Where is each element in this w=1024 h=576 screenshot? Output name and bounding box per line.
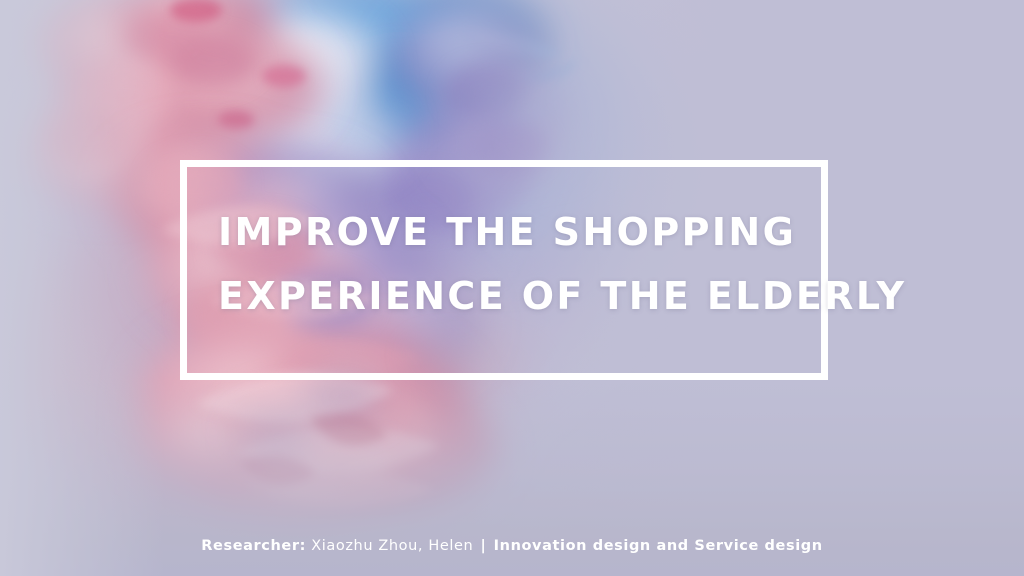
title-line-2: EXPERIENCE OF THE ELDERLY xyxy=(218,264,818,328)
footer-credit: Researcher: Xiaozhu Zhou, Helen | Innova… xyxy=(0,538,1024,554)
footer-researcher-names: Xiaozhu Zhou, Helen xyxy=(311,538,473,554)
title-slide: IMPROVE THE SHOPPING EXPERIENCE OF THE E… xyxy=(0,0,1024,576)
title-line-1: IMPROVE THE SHOPPING xyxy=(218,200,818,264)
footer-separator: | xyxy=(479,538,489,554)
footer-discipline: Innovation design and Service design xyxy=(494,538,823,554)
footer-researcher-label: Researcher: xyxy=(201,538,306,554)
page-title: IMPROVE THE SHOPPING EXPERIENCE OF THE E… xyxy=(218,200,818,328)
